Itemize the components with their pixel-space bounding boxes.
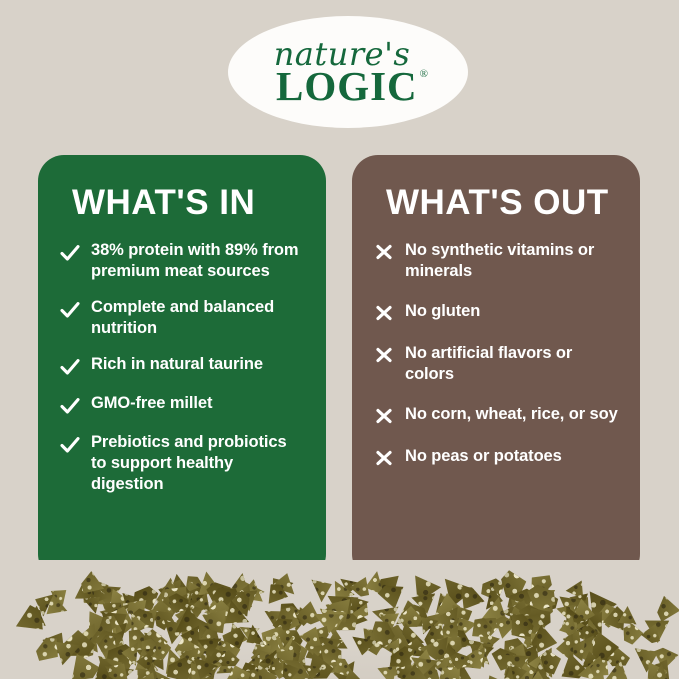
- list-item: GMO-free millet: [60, 393, 304, 417]
- x-icon: [374, 344, 394, 366]
- list-item-label: Complete and balanced nutrition: [91, 297, 304, 339]
- whats-in-list: 38% protein with 89% from premium meat s…: [60, 240, 304, 496]
- check-icon: [60, 434, 80, 456]
- x-icon: [374, 241, 394, 263]
- whats-out-list: No synthetic vitamins or minerals No glu…: [374, 240, 618, 469]
- logo-wordmark: LOGIC: [276, 66, 418, 107]
- whats-out-panel: WHAT'S OUT No synthetic vitamins or mine…: [352, 155, 640, 580]
- check-icon: [60, 299, 80, 321]
- list-item: No synthetic vitamins or minerals: [374, 240, 618, 282]
- list-item: No peas or potatoes: [374, 446, 618, 469]
- whats-out-title: WHAT'S OUT: [386, 185, 618, 222]
- list-item-label: No corn, wheat, rice, or soy: [405, 404, 618, 425]
- list-item: No artificial flavors or colors: [374, 343, 618, 385]
- whats-in-panel: WHAT'S IN 38% protein with 89% from prem…: [38, 155, 326, 580]
- brand-logo: nature's LOGIC ®: [228, 16, 468, 128]
- list-item: Complete and balanced nutrition: [60, 297, 304, 339]
- list-item-label: No peas or potatoes: [405, 446, 562, 467]
- registered-trademark-icon: ®: [420, 69, 428, 80]
- list-item: No corn, wheat, rice, or soy: [374, 404, 618, 427]
- list-item: Prebiotics and probiotics to support hea…: [60, 432, 304, 495]
- logo-text-group: nature's LOGIC ®: [228, 16, 468, 128]
- kibble-piece: [622, 623, 643, 645]
- whats-in-title: WHAT'S IN: [72, 185, 304, 222]
- list-item-label: Prebiotics and probiotics to support hea…: [91, 432, 304, 495]
- list-item: 38% protein with 89% from premium meat s…: [60, 240, 304, 282]
- list-item: Rich in natural taurine: [60, 354, 304, 378]
- list-item-label: 38% protein with 89% from premium meat s…: [91, 240, 304, 282]
- x-icon: [374, 447, 394, 469]
- x-icon: [374, 405, 394, 427]
- list-item: No gluten: [374, 301, 618, 324]
- check-icon: [60, 356, 80, 378]
- list-item-label: GMO-free millet: [91, 393, 212, 414]
- list-item-label: No gluten: [405, 301, 480, 322]
- check-icon: [60, 395, 80, 417]
- x-icon: [374, 302, 394, 324]
- logo-wordmark-row: LOGIC ®: [276, 66, 428, 107]
- list-item-label: No artificial flavors or colors: [405, 343, 618, 385]
- kibble-product-photo: [0, 560, 679, 679]
- check-icon: [60, 242, 80, 264]
- kibble-piece: [655, 592, 679, 625]
- list-item-label: Rich in natural taurine: [91, 354, 263, 375]
- list-item-label: No synthetic vitamins or minerals: [405, 240, 618, 282]
